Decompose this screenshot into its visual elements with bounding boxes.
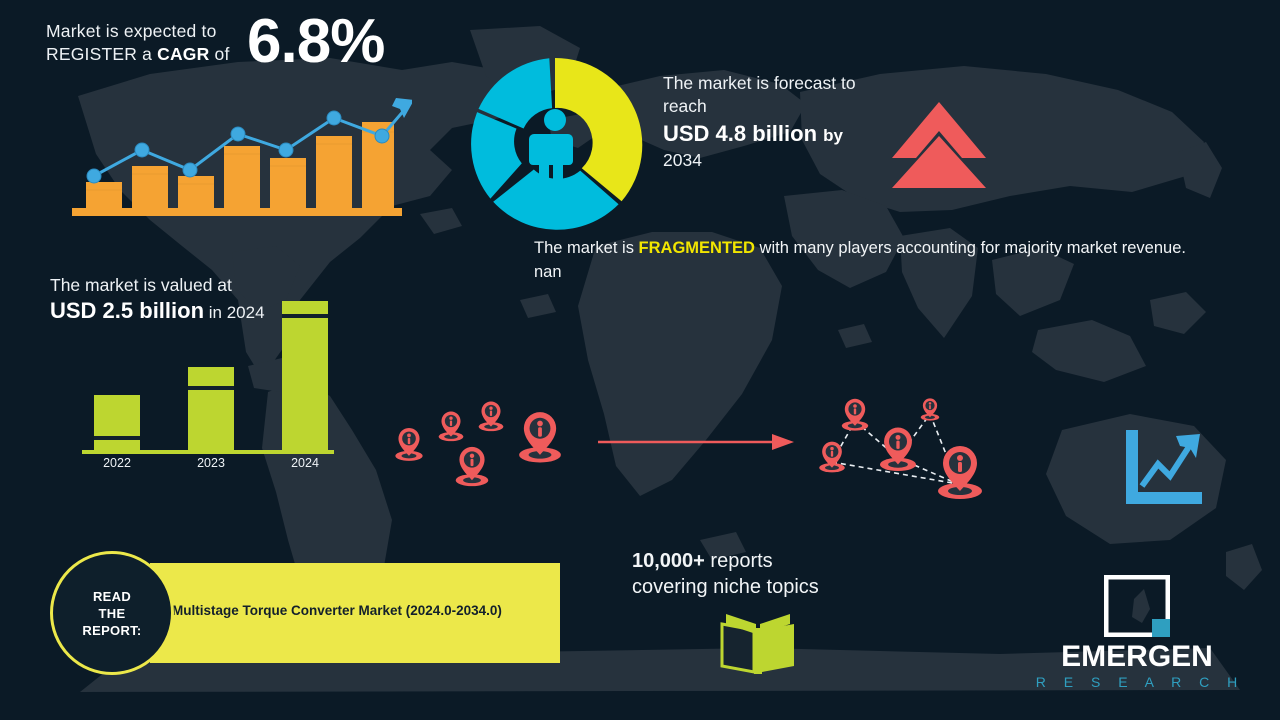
chart-arrow-head	[1176, 434, 1200, 458]
forecast-line-1: The market is forecast to	[663, 72, 893, 95]
cagr-label: Market is expected to REGISTER a CAGR of	[46, 20, 241, 66]
location-pin	[456, 447, 489, 486]
valued-line-1: The market is valued at	[50, 274, 380, 297]
growth-bar	[316, 136, 352, 208]
value-bar-2024-divider	[282, 314, 328, 318]
growth-bar	[132, 166, 168, 208]
read-report-badge-line-1: READ	[82, 588, 141, 605]
forecast-by: by	[823, 126, 843, 145]
value-bar-2023-divider	[188, 386, 234, 390]
value-bar-2024	[282, 301, 328, 450]
growth-baseline	[72, 208, 402, 216]
read-report-badge-label: READ THE REPORT:	[82, 588, 141, 639]
location-pin	[439, 411, 464, 441]
scattered-location-pins	[382, 388, 582, 493]
location-pin	[921, 398, 939, 420]
logo-mark-icon	[1104, 575, 1170, 637]
value-chart-labels: 2022 2023 2024	[103, 456, 319, 470]
read-report-badge-line-3: REPORT:	[82, 622, 141, 639]
trend-arrow-head	[392, 98, 412, 118]
book-spine	[754, 628, 762, 674]
read-report-badge[interactable]: READ THE REPORT:	[50, 551, 174, 675]
location-pin	[880, 428, 916, 471]
growth-bars	[86, 136, 394, 208]
cagr-value: 6.8%	[247, 6, 384, 78]
right-arrow-icon	[596, 430, 796, 454]
line-chart-icon	[1122, 428, 1206, 510]
connected-location-pins	[806, 388, 1012, 500]
reports-line-2: covering niche topics	[632, 574, 932, 600]
read-report-badge-line-2: THE	[82, 605, 141, 622]
reports-line-1: 10,000+ reports	[632, 548, 932, 574]
value-chart-label-2023: 2023	[197, 456, 225, 470]
cagr-of-text: of	[209, 44, 229, 64]
market-value-bar-chart: 2022 2023 2024	[78, 295, 338, 470]
cagr-line-1: Market is expected to	[46, 20, 241, 43]
chart-zigzag	[1142, 442, 1192, 486]
value-bar-2023	[188, 367, 234, 450]
growth-bar	[178, 176, 214, 208]
value-bar-2022-divider	[94, 436, 140, 440]
cagr-line-2: REGISTER a CAGR of	[46, 43, 241, 66]
value-bars	[94, 301, 328, 450]
reports-count: 10,000+	[632, 550, 705, 572]
value-chart-label-2024: 2024	[291, 456, 319, 470]
infographic-canvas: Market is expected to REGISTER a CAGR of…	[0, 0, 1280, 720]
forecast-line-2: reach	[663, 95, 893, 118]
fragmented-highlight: FRAGMENTED	[639, 239, 755, 257]
emergen-research-logo: EMERGEN R E S E A R C H	[1022, 575, 1252, 691]
forecast-value-row: USD 4.8 billion by	[663, 120, 893, 149]
fragmented-text: The market is FRAGMENTED with many playe…	[534, 236, 1214, 284]
forecast-block: The market is forecast to reach USD 4.8 …	[663, 72, 893, 171]
location-pin	[842, 399, 868, 431]
forecast-year: 2034	[663, 149, 893, 171]
forecast-value: USD 4.8 billion	[663, 121, 817, 146]
logo-inner-shape	[1132, 589, 1150, 623]
location-pin	[395, 428, 422, 461]
value-chart-baseline	[82, 450, 334, 454]
growth-bar	[86, 182, 122, 208]
fragmented-pre: The market is	[534, 239, 639, 257]
growth-bar	[224, 146, 260, 208]
value-bar-2022	[94, 395, 140, 450]
logo-subtitle: R E S E A R C H	[1022, 673, 1252, 691]
cagr-register-text: REGISTER a	[46, 44, 157, 64]
cagr-bold-word: CAGR	[157, 44, 209, 64]
arrow-head	[772, 434, 794, 450]
open-book-icon	[718, 610, 798, 676]
growth-bar-chart	[62, 86, 412, 222]
market-share-donut	[462, 52, 648, 238]
read-report-title: Multistage Torque Converter Market (2024…	[172, 596, 502, 626]
double-chevron-up-icon	[890, 98, 988, 190]
location-pin	[938, 446, 982, 499]
logo-wordmark: EMERGEN	[1022, 641, 1252, 673]
reports-line-1-rest: reports	[705, 550, 773, 572]
fragmented-statement: The market is FRAGMENTED with many playe…	[534, 236, 1214, 284]
value-chart-label-2022: 2022	[103, 456, 131, 470]
location-pin	[479, 401, 504, 431]
location-pin	[519, 412, 561, 462]
reports-block: 10,000+ reports covering niche topics	[632, 548, 932, 600]
logo-accent	[1152, 619, 1170, 637]
